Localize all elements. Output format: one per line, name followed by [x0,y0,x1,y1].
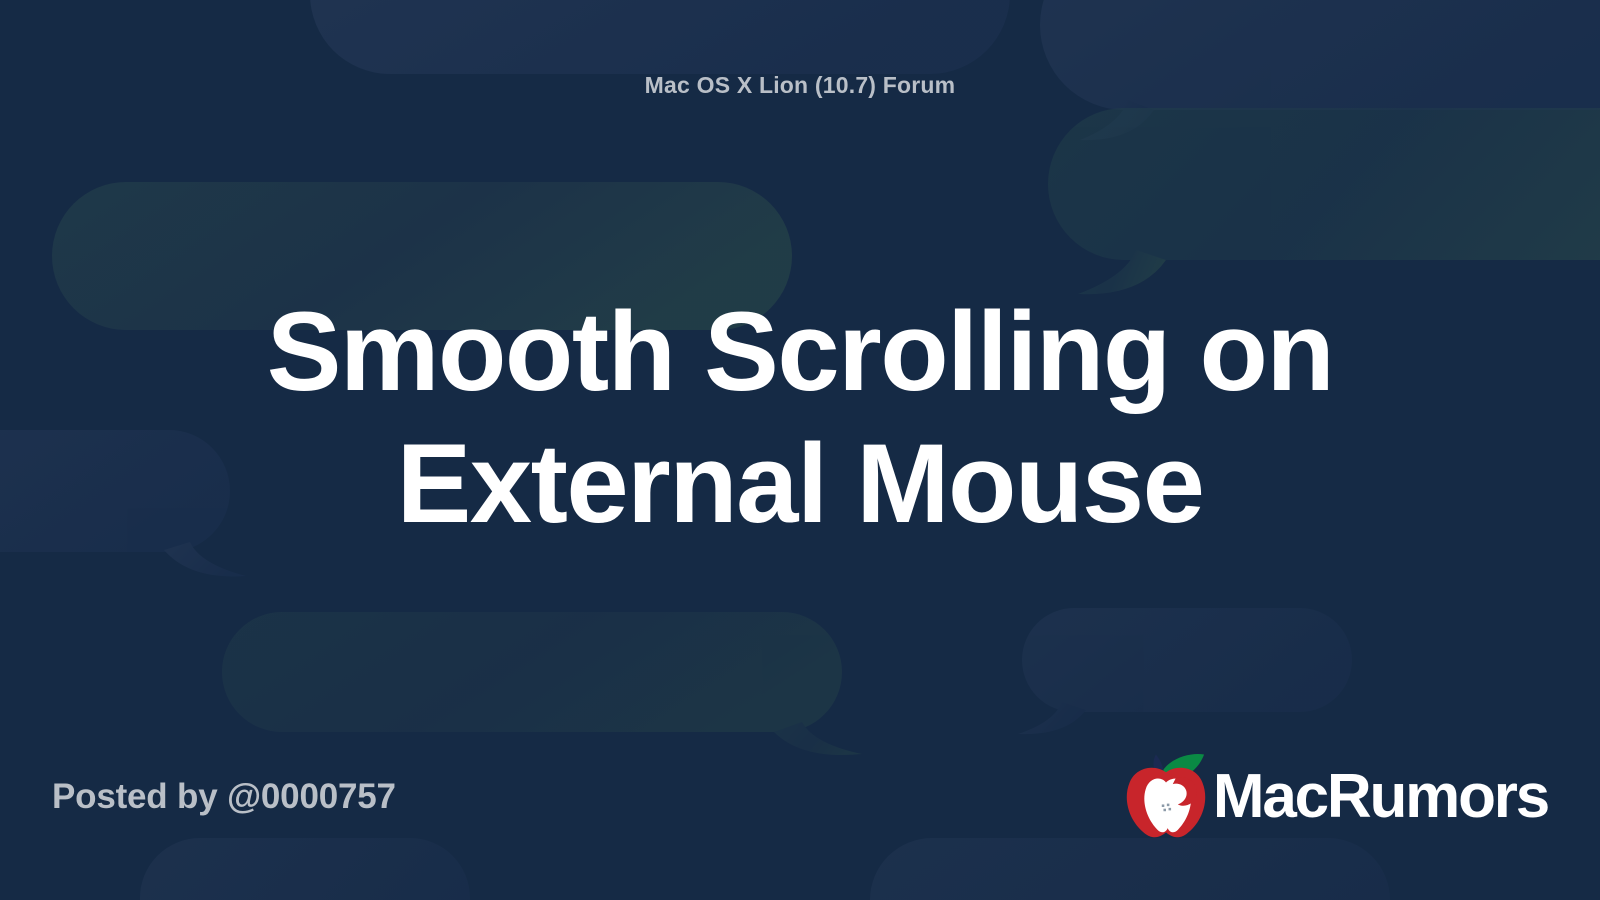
card-content: Mac OS X Lion (10.7) Forum Smooth Scroll… [0,0,1600,900]
macrumors-logo: MacRumors [1123,752,1548,842]
card-footer: Posted by @0000757 [0,762,1600,832]
posted-by-label: Posted by @0000757 [52,777,396,817]
page-title-container: Smooth Scrolling on External Mouse [0,286,1600,550]
macrumors-wordmark: MacRumors [1213,766,1548,828]
macrumors-apple-icon [1123,752,1209,840]
page-title: Smooth Scrolling on External Mouse [90,286,1510,550]
forum-label: Mac OS X Lion (10.7) Forum [645,72,956,99]
social-share-card: Mac OS X Lion (10.7) Forum Smooth Scroll… [0,0,1600,900]
